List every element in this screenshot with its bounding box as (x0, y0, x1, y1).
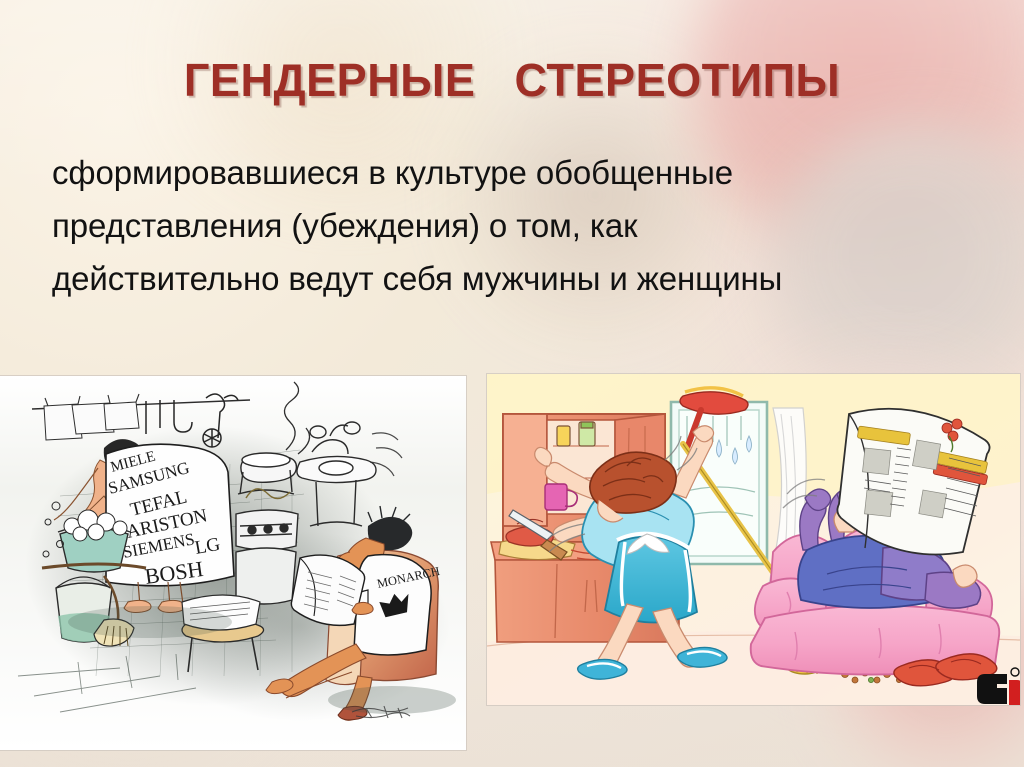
svg-text:LG: LG (193, 534, 222, 559)
slide-title: ГЕНДЕРНЫЕ СТЕРЕОТИПЫ (10, 53, 1014, 107)
cartoon-image-left: MIELE SAMSUNG TEFAL ARISTON SIEMENS LG B… (0, 376, 466, 750)
cartoon-image-right (487, 374, 1020, 705)
presentation-slide: ГЕНДЕРНЫЕ СТЕРЕОТИПЫ сформировавшиеся в … (0, 0, 1024, 767)
slide-body-text: сформировавшиеся в культуре обобщенные п… (52, 146, 1002, 305)
